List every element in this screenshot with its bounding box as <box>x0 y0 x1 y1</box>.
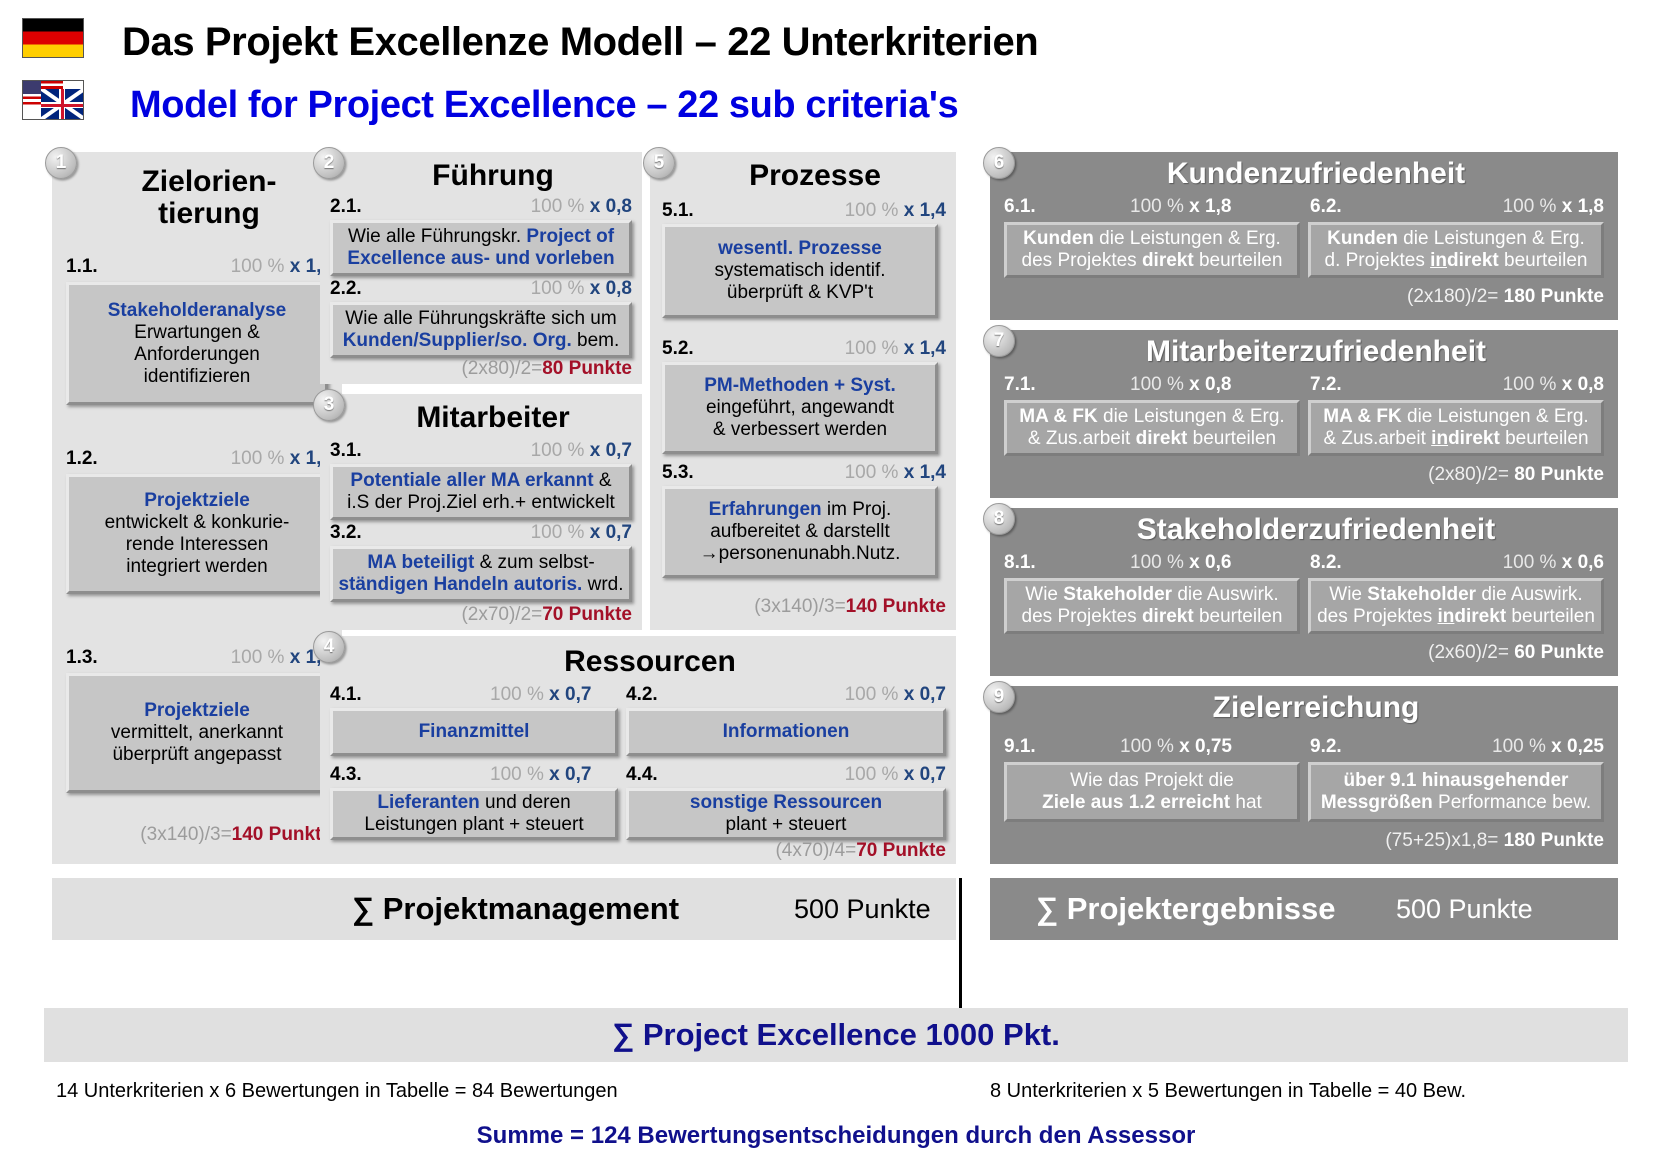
criterion-title-9: Zielerreichung <box>1014 692 1618 724</box>
sub-card-8-1[interactable]: Wie Stakeholder die Auswirk.des Projekte… <box>1004 578 1300 634</box>
criterion-title-4: Ressourcen <box>344 646 956 678</box>
sub-card-4-2[interactable]: Informationen <box>626 708 946 756</box>
card-line: über 9.1 hinausgehender <box>1315 770 1597 792</box>
title-english: Model for Project Excellence – 22 sub cr… <box>130 84 958 127</box>
sub-weight-4-2: 100 % x 0,7 <box>845 684 946 706</box>
summary-left-label: ∑ Projektmanagement <box>352 891 679 927</box>
sub-card-8-2[interactable]: Wie Stakeholder die Auswirk.des Projekte… <box>1308 578 1604 634</box>
card-line: Wie das Projekt die <box>1011 770 1293 792</box>
sub-weight-3-1: 100 % x 0,7 <box>531 440 632 462</box>
card-line: Anforderungen <box>73 344 321 366</box>
criterion-points-9: (75+25)x1,8= 180 Punkte <box>1385 830 1604 852</box>
criterion-block-4: 4 Ressourcen 4.1. 100 % x 0,7 Finanzmitt… <box>320 636 956 864</box>
sub-weight-5-1: 100 % x 1,4 <box>845 200 946 222</box>
note-left: 14 Unterkriterien x 6 Bewertungen in Tab… <box>56 1080 618 1103</box>
card-line: eingeführt, angewandt <box>669 397 931 419</box>
card-line: Erwartungen & <box>73 322 321 344</box>
card-line: entwickelt & konkurie- <box>73 512 321 534</box>
sub-id-1-2: 1.2. <box>66 448 98 470</box>
card-line: Projektziele <box>73 700 321 722</box>
sub-card-7-2[interactable]: MA & FK die Leistungen & Erg.& Zus.arbei… <box>1308 400 1604 456</box>
sub-id-6-2: 6.2. <box>1310 196 1342 218</box>
sub-card-6-1[interactable]: Kunden die Leistungen & Erg.des Projekte… <box>1004 222 1300 278</box>
sub-weight-4-3: 100 % x 0,7 <box>490 764 591 786</box>
german-flag-icon <box>22 18 84 58</box>
sub-weight-6-1: 100 % x 1,8 <box>1130 196 1231 218</box>
summary-projektergebnisse: ∑ Projektergebnisse 500 Punkte <box>990 878 1618 940</box>
criterion-block-7: 7 Mitarbeiterzufriedenheit 7.1. 100 % x … <box>990 330 1618 498</box>
card-line: des Projektes direkt beurteilen <box>1011 250 1293 272</box>
sub-weight-5-2: 100 % x 1,4 <box>845 338 946 360</box>
card-line: rende Interessen <box>73 534 321 556</box>
card-line: & verbessert werden <box>669 419 931 441</box>
card-line: PM-Methoden + Syst. <box>669 375 931 397</box>
criterion-title-8: Stakeholderzufriedenheit <box>1014 514 1618 546</box>
card-line: systematisch identif. <box>669 260 931 282</box>
card-line: Finanzmittel <box>337 721 611 743</box>
criterion-block-5: 5 Prozesse 5.1. 100 % x 1,4 wesentl. Pro… <box>650 152 956 630</box>
criterion-title-1b: tierung <box>76 198 342 230</box>
sub-card-1-2[interactable]: Projektzieleentwickelt & konkurie-rende … <box>66 474 328 594</box>
criterion-title-2: Führung <box>344 160 642 192</box>
criterion-points-7: (2x80)/2= 80 Punkte <box>1428 464 1604 486</box>
criterion-points-2: (2x80)/2=80 Punkte <box>461 358 632 380</box>
card-line: wesentl. Prozesse <box>669 238 931 260</box>
header: Das Projekt Excellenze Modell – 22 Unter… <box>0 6 1672 134</box>
criterion-points-3: (2x70)/2=70 Punkte <box>461 604 632 626</box>
criterion-title-6: Kundenzufriedenheit <box>1014 158 1618 190</box>
criterion-title-5: Prozesse <box>674 160 956 192</box>
sub-weight-9-2: 100 % x 0,25 <box>1492 736 1604 758</box>
criterion-title-3: Mitarbeiter <box>344 402 642 434</box>
sub-card-3-2[interactable]: MA beteiligt & zum selbst-ständigen Hand… <box>330 546 632 602</box>
sub-id-8-1: 8.1. <box>1004 552 1036 574</box>
sub-id-1-1: 1.1. <box>66 256 98 278</box>
card-line: Stakeholderanalyse <box>73 300 321 322</box>
sub-card-2-1[interactable]: Wie alle Führungskr. Project ofExcellenc… <box>330 220 632 276</box>
sub-card-1-3[interactable]: Projektzielevermittelt, anerkanntüberprü… <box>66 673 328 793</box>
card-line: Kunden/Supplier/so. Org. bem. <box>337 330 625 352</box>
sub-weight-7-2: 100 % x 0,8 <box>1503 374 1604 396</box>
sub-id-5-1: 5.1. <box>662 200 694 222</box>
criterion-block-9: 9 Zielerreichung 9.1. 100 % x 0,75 Wie d… <box>990 686 1618 864</box>
card-line: Wie alle Führungskr. Project of <box>337 226 625 248</box>
card-line: d. Projektes indirekt beurteilen <box>1315 250 1597 272</box>
summary-projektmanagement: ∑ Projektmanagement 500 Punkte <box>52 878 956 940</box>
criterion-badge-1: 1 <box>45 147 77 179</box>
criterion-block-2: 2 Führung 2.1. 100 % x 0,8 Wie alle Führ… <box>320 152 642 384</box>
sub-card-9-2[interactable]: über 9.1 hinausgehenderMessgrößen Perfor… <box>1308 762 1604 822</box>
criterion-points-8: (2x60)/2= 60 Punkte <box>1428 642 1604 664</box>
note-right: 8 Unterkriterien x 5 Bewertungen in Tabe… <box>990 1080 1466 1103</box>
sub-card-5-2[interactable]: PM-Methoden + Syst.eingeführt, angewandt… <box>662 362 938 454</box>
card-line: Wie Stakeholder die Auswirk. <box>1315 584 1597 606</box>
card-line: identifizieren <box>73 366 321 388</box>
card-line: Excellence aus- und vorleben <box>337 248 625 270</box>
card-line: Erfahrungen im Proj. <box>669 499 931 521</box>
card-line: Kunden die Leistungen & Erg. <box>1315 228 1597 250</box>
card-line: aufbereitet & darstellt <box>669 521 931 543</box>
title-german: Das Projekt Excellenze Modell – 22 Unter… <box>122 20 1038 65</box>
sub-weight-4-1: 100 % x 0,7 <box>490 684 591 706</box>
criterion-badge-7: 7 <box>983 325 1015 357</box>
card-line: MA & FK die Leistungen & Erg. <box>1011 406 1293 428</box>
card-line: i.S der Proj.Ziel erh.+ entwickelt <box>337 492 625 514</box>
sub-weight-8-2: 100 % x 0,6 <box>1503 552 1604 574</box>
sub-card-4-4[interactable]: sonstige Ressourcenplant + steuert <box>626 788 946 840</box>
sub-id-6-1: 6.1. <box>1004 196 1036 218</box>
sub-weight-3-2: 100 % x 0,7 <box>531 522 632 544</box>
sub-weight-1-2: 100 % x 1,4 <box>231 448 332 470</box>
card-line: Leistungen plant + steuert <box>337 814 611 836</box>
card-line: sonstige Ressourcen <box>633 792 939 814</box>
criterion-badge-8: 8 <box>983 503 1015 535</box>
criterion-block-6: 6 Kundenzufriedenheit 6.1. 100 % x 1,8 K… <box>990 152 1618 320</box>
card-line: & Zus.arbeit indirekt beurteilen <box>1315 428 1597 450</box>
card-line: Messgrößen Performance bew. <box>1315 792 1597 814</box>
sub-id-4-3: 4.3. <box>330 764 362 786</box>
card-line: Lieferanten und deren <box>337 792 611 814</box>
sub-card-2-2[interactable]: Wie alle Führungskräfte sich umKunden/Su… <box>330 302 632 358</box>
summary-left-points: 500 Punkte <box>794 894 931 925</box>
card-line: des Projektes direkt beurteilen <box>1011 606 1293 628</box>
criterion-badge-3: 3 <box>313 389 345 421</box>
card-line: des Projektes indirekt beurteilen <box>1315 606 1597 628</box>
card-line: überprüft angepasst <box>73 744 321 766</box>
criterion-points-1: (3x140)/3=140 Punkte <box>140 824 332 846</box>
card-line: ständigen Handeln autoris. wrd. <box>337 574 625 596</box>
card-line: Wie Stakeholder die Auswirk. <box>1011 584 1293 606</box>
card-line: →personenunabh.Nutz. <box>669 543 931 565</box>
sub-card-5-1[interactable]: wesentl. Prozessesystematisch identif.üb… <box>662 224 938 318</box>
sub-card-3-1[interactable]: Potentiale aller MA erkannt &i.S der Pro… <box>330 464 632 520</box>
sub-weight-9-1: 100 % x 0,75 <box>1120 736 1232 758</box>
sub-id-5-2: 5.2. <box>662 338 694 360</box>
criterion-title-7: Mitarbeiterzufriedenheit <box>1014 336 1618 368</box>
card-line: Informationen <box>633 721 939 743</box>
card-line: Wie alle Führungskräfte sich um <box>337 308 625 330</box>
card-line: plant + steuert <box>633 814 939 836</box>
sub-id-7-1: 7.1. <box>1004 374 1036 396</box>
sub-card-7-1[interactable]: MA & FK die Leistungen & Erg.& Zus.arbei… <box>1004 400 1300 456</box>
criterion-badge-4: 4 <box>313 631 345 663</box>
sub-id-9-1: 9.1. <box>1004 736 1036 758</box>
card-line: Kunden die Leistungen & Erg. <box>1011 228 1293 250</box>
card-line: überprüft & KVP't <box>669 282 931 304</box>
sub-id-8-2: 8.2. <box>1310 552 1342 574</box>
summary-right-points: 500 Punkte <box>1396 894 1533 925</box>
sub-id-2-2: 2.2. <box>330 278 362 300</box>
summary-right-label: ∑ Projektergebnisse <box>1036 891 1336 927</box>
us-uk-flag-icon <box>22 80 84 120</box>
sub-weight-2-1: 100 % x 0,8 <box>531 196 632 218</box>
sub-id-4-1: 4.1. <box>330 684 362 706</box>
sub-id-7-2: 7.2. <box>1310 374 1342 396</box>
sub-id-2-1: 2.1. <box>330 196 362 218</box>
sub-weight-8-1: 100 % x 0,6 <box>1130 552 1231 574</box>
criterion-points-6: (2x180)/2= 180 Punkte <box>1407 286 1604 308</box>
criterion-title-1: Zielorien- <box>76 166 342 198</box>
criterion-badge-6: 6 <box>983 147 1015 179</box>
sub-id-4-4: 4.4. <box>626 764 658 786</box>
sub-weight-2-2: 100 % x 0,8 <box>531 278 632 300</box>
diagram-canvas: Das Projekt Excellenze Modell – 22 Unter… <box>0 0 1672 1162</box>
card-line: Projektziele <box>73 490 321 512</box>
sub-weight-4-4: 100 % x 0,7 <box>845 764 946 786</box>
sub-id-5-3: 5.3. <box>662 462 694 484</box>
sub-id-3-1: 3.1. <box>330 440 362 462</box>
criterion-points-5: (3x140)/3=140 Punkte <box>754 596 946 618</box>
card-line: Ziele aus 1.2 erreicht hat <box>1011 792 1293 814</box>
sub-card-4-3[interactable]: Lieferanten und derenLeistungen plant + … <box>330 788 618 840</box>
grand-total-label: ∑ Project Excellence 1000 Pkt. <box>612 1017 1060 1053</box>
criterion-points-4: (4x70)/4=70 Punkte <box>775 840 946 862</box>
criterion-badge-2: 2 <box>313 147 345 179</box>
criterion-block-1: 1 Zielorien- tierung 1.1. 100 % x 1,4 St… <box>52 152 342 864</box>
criterion-badge-5: 5 <box>643 147 675 179</box>
criterion-block-8: 8 Stakeholderzufriedenheit 8.1. 100 % x … <box>990 508 1618 676</box>
criterion-block-3: 3 Mitarbeiter 3.1. 100 % x 0,7 Potential… <box>320 394 642 630</box>
card-line: MA beteiligt & zum selbst- <box>337 552 625 574</box>
sub-id-3-2: 3.2. <box>330 522 362 544</box>
sub-id-4-2: 4.2. <box>626 684 658 706</box>
sub-weight-5-3: 100 % x 1,4 <box>845 462 946 484</box>
card-line: vermittelt, anerkannt <box>73 722 321 744</box>
sub-card-1-1[interactable]: StakeholderanalyseErwartungen &Anforderu… <box>66 282 328 405</box>
card-line: Potentiale aller MA erkannt & <box>337 470 625 492</box>
sub-weight-1-1: 100 % x 1,4 <box>231 256 332 278</box>
sub-card-5-3[interactable]: Erfahrungen im Proj.aufbereitet & darste… <box>662 486 938 578</box>
sub-weight-6-2: 100 % x 1,8 <box>1503 196 1604 218</box>
sub-weight-7-1: 100 % x 0,8 <box>1130 374 1231 396</box>
sub-card-9-1[interactable]: Wie das Projekt dieZiele aus 1.2 erreich… <box>1004 762 1300 822</box>
sub-card-4-1[interactable]: Finanzmittel <box>330 708 618 756</box>
note-final: Summe = 124 Bewertungsentscheidungen dur… <box>0 1122 1672 1150</box>
sub-card-6-2[interactable]: Kunden die Leistungen & Erg.d. Projektes… <box>1308 222 1604 278</box>
card-line: & Zus.arbeit direkt beurteilen <box>1011 428 1293 450</box>
criterion-badge-9: 9 <box>983 681 1015 713</box>
card-line: MA & FK die Leistungen & Erg. <box>1315 406 1597 428</box>
grand-total-bar: ∑ Project Excellence 1000 Pkt. <box>44 1008 1628 1062</box>
sub-id-9-2: 9.2. <box>1310 736 1342 758</box>
sub-id-1-3: 1.3. <box>66 647 98 669</box>
card-line: integriert werden <box>73 556 321 578</box>
